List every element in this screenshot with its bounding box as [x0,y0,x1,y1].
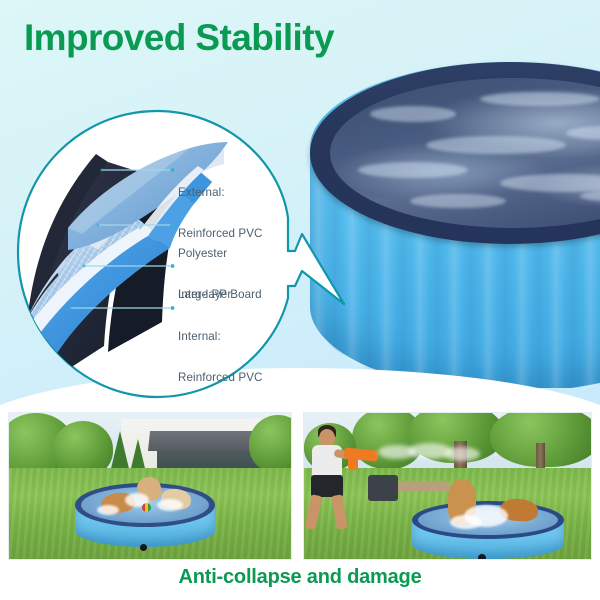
patio-awning [148,431,265,451]
patio-chair [368,475,398,501]
bottom-caption: Anti-collapse and damage [0,566,600,589]
dog-toy-ball [142,503,151,512]
photo-man-spraying-dogs [303,412,592,560]
layer-label-polyester-line1: Polyester [178,247,231,261]
layer-label-internal-line2: Reinforced PVC [178,371,263,385]
small-pool-drain-valve [140,544,147,551]
tree [249,415,292,473]
page-title: Improved Stability [24,17,334,59]
man-shorts [311,475,343,497]
water-gun-handle [348,457,358,470]
small-pool-drain-valve [478,554,486,560]
product-infographic-poster: External: Reinforced PVC Polyester Inter… [0,0,600,600]
layer-label-external-line1: External: [178,186,263,200]
layer-label-internal: Internal: Reinforced PVC [178,303,263,412]
layer-label-pp-board-line1: Large PP Board [178,288,262,302]
photo-dogs-in-pool [8,412,292,560]
layer-label-internal-line1: Internal: [178,330,263,344]
